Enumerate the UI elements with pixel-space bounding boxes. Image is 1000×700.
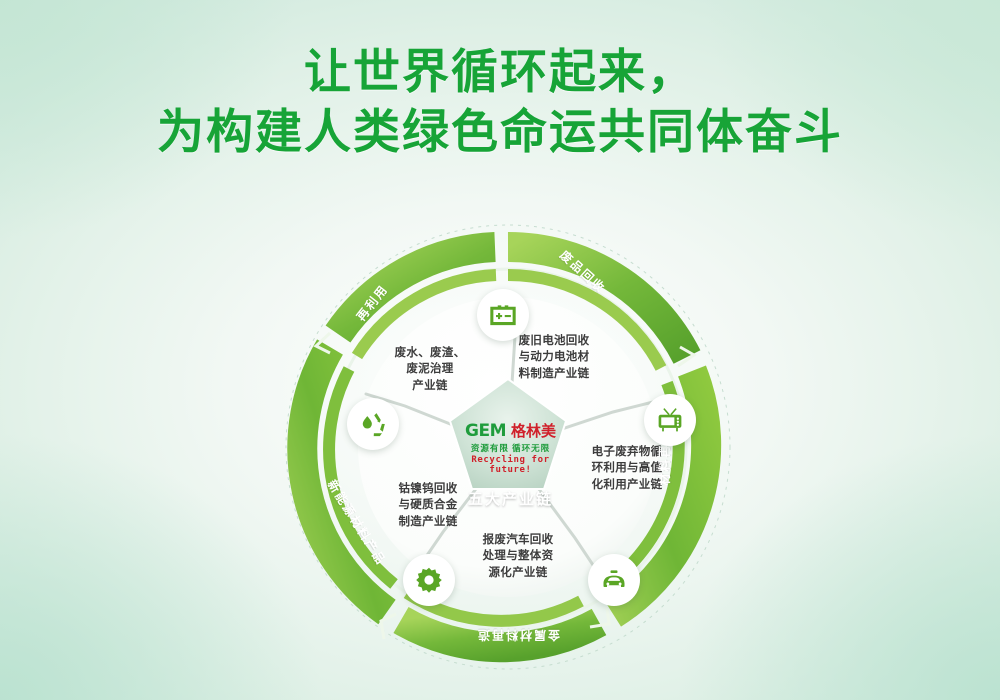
segment-label-auto: 报废汽车回收 处理与整体资 源化产业链 bbox=[465, 532, 571, 581]
gem-slogan-en: Recycling for future! bbox=[454, 455, 567, 475]
battery-icon bbox=[489, 301, 517, 329]
page-title-line-1: 让世界循环起来， bbox=[0, 42, 1000, 102]
segment-label-battery: 废旧电池回收 与动力电池材 料制造产业链 bbox=[501, 333, 607, 382]
page-title: 让世界循环起来， 为构建人类绿色命运共同体奋斗 bbox=[0, 42, 1000, 162]
gem-slogan-cn: 资源有限 循环无限 bbox=[454, 442, 567, 454]
gear-icon-bubble bbox=[403, 554, 455, 606]
core-label: 五大产业链 bbox=[454, 488, 567, 509]
gem-logo: GEM 格林美 资源有限 循环无限 Recycling for future! … bbox=[454, 423, 567, 523]
water-recycle-icon-bubble bbox=[347, 398, 399, 450]
segment-label-water: 废水、废渣、 废泥治理 产业链 bbox=[378, 345, 482, 394]
gem-wordmark: GEM bbox=[465, 423, 506, 440]
gem-brand-cn: 格林美 bbox=[511, 424, 556, 439]
car-icon-bubble bbox=[588, 554, 640, 606]
gear-icon bbox=[415, 566, 443, 594]
battery-icon-bubble bbox=[477, 289, 529, 341]
ring-label-metal-remake: 金属材料再造 bbox=[476, 627, 560, 644]
car-icon bbox=[600, 566, 628, 594]
water-recycle-icon bbox=[359, 410, 387, 438]
page-title-line-2: 为构建人类绿色命运共同体奋斗 bbox=[0, 102, 1000, 162]
tv-icon-bubble bbox=[644, 394, 696, 446]
gem-logo-row: GEM 格林美 bbox=[454, 423, 567, 440]
tv-icon bbox=[656, 406, 684, 434]
industry-chain-wheel-diagram: 废旧电池回收 与动力电池材 料制造产业链 电子废弃物循 环利用与高值 化利用产业… bbox=[283, 216, 733, 678]
